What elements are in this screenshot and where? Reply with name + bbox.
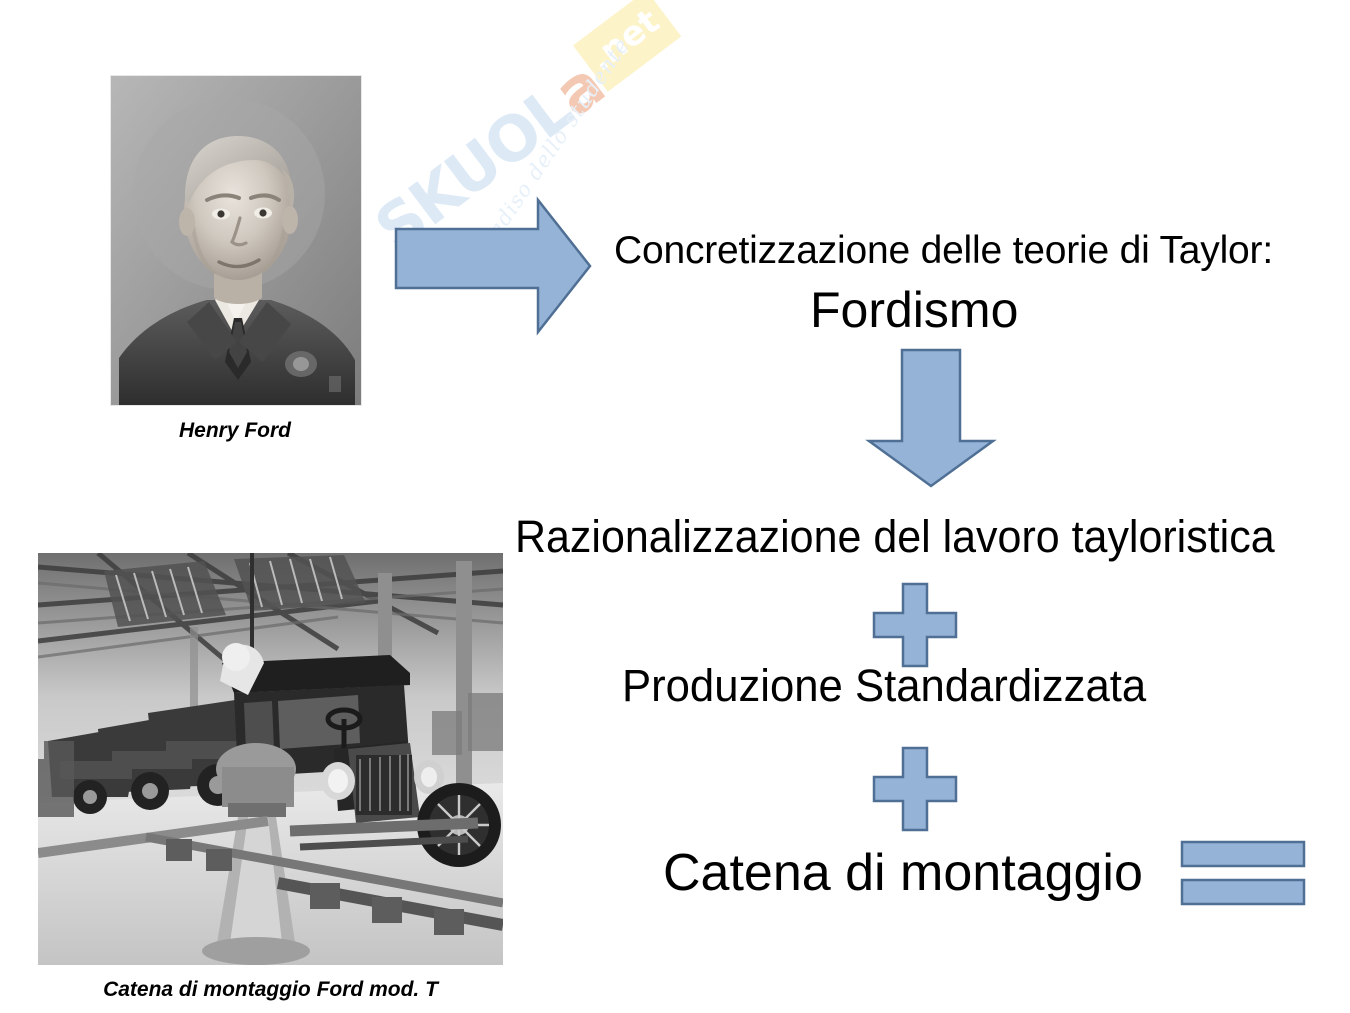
arrow-right-icon	[393, 196, 593, 336]
plus-icon	[872, 746, 958, 832]
factory-caption: Catena di montaggio Ford mod. T	[38, 978, 503, 1002]
plus-shape-1	[872, 582, 958, 668]
factory-illustration	[38, 553, 503, 965]
portrait-caption: Henry Ford	[110, 419, 360, 443]
arrow-down-shape	[865, 347, 997, 489]
slide-canvas: SKUOLa .net il paradiso dello studente	[0, 0, 1350, 1013]
portrait-illustration	[111, 76, 361, 405]
arrow-down-icon	[865, 347, 997, 489]
text-catena-di-montaggio: Catena di montaggio	[663, 843, 1143, 903]
plus-shape-2	[872, 746, 958, 832]
text-fordismo: Fordismo	[810, 281, 1018, 339]
equals-icon	[1180, 840, 1306, 906]
henry-ford-portrait	[110, 75, 362, 406]
text-razionalizzazione: Razionalizzazione del lavoro tayloristic…	[515, 511, 1275, 563]
arrow-right-shape	[393, 196, 593, 336]
plus-icon	[872, 582, 958, 668]
equals-shape	[1180, 840, 1306, 906]
text-produzione-standardizzata: Produzione Standardizzata	[622, 660, 1146, 712]
assembly-line-photo	[38, 553, 503, 965]
watermark-domain: .net	[573, 0, 682, 92]
text-concretizzazione: Concretizzazione delle teorie di Taylor:	[614, 229, 1273, 273]
